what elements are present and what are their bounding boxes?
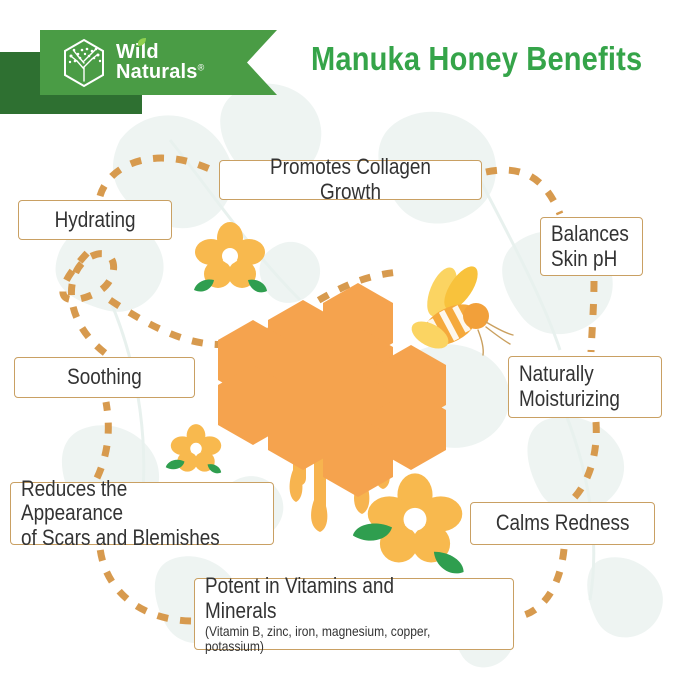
bee-icon — [407, 261, 513, 355]
benefit-label: Potent in Vitamins and Minerals — [205, 574, 461, 623]
infographic-canvas: Wild Naturals® Manuka Honey Benefits — [0, 0, 679, 679]
benefit-label: Hydrating — [55, 208, 136, 233]
benefit-sublabel: (Vitamin B, zinc, iron, magnesium, coppe… — [205, 624, 461, 654]
benefit-label: Naturally Moisturizing — [519, 362, 633, 411]
brand-logo-naturals: Naturals® — [116, 63, 204, 83]
benefit-label: Reduces the Appearance of Scars and Blem… — [21, 477, 229, 551]
benefit-label: Soothing — [67, 365, 142, 390]
honey-drip-icon — [290, 432, 390, 532]
brand-logo-text: Wild Naturals® — [116, 43, 204, 82]
brand-logo-line1: Wild — [116, 43, 204, 63]
benefit-box-balances-skin-ph[interactable]: Balances Skin pH — [540, 217, 643, 276]
benefit-label: Balances Skin pH — [551, 222, 621, 271]
benefit-box-potent-vitamins[interactable]: Potent in Vitamins and Minerals (Vitamin… — [194, 578, 514, 650]
brand-logo: Wild Naturals® — [58, 36, 243, 90]
flower-icon — [166, 424, 221, 473]
benefit-label: Calms Redness — [496, 511, 630, 536]
brand-banner: Wild Naturals® — [40, 30, 277, 95]
benefit-box-calms-redness[interactable]: Calms Redness — [470, 502, 655, 545]
benefit-box-naturally-moisturizing[interactable]: Naturally Moisturizing — [508, 356, 662, 418]
benefit-box-soothing[interactable]: Soothing — [14, 357, 195, 398]
benefit-box-hydrating[interactable]: Hydrating — [18, 200, 172, 240]
benefit-box-collagen[interactable]: Promotes Collagen Growth — [219, 160, 482, 200]
page-title: Manuka Honey Benefits — [311, 40, 642, 78]
benefit-box-reduces-scars[interactable]: Reduces the Appearance of Scars and Blem… — [10, 482, 274, 545]
flower-icon — [194, 222, 267, 292]
leaf-icon — [136, 37, 147, 48]
hexagon-tree-icon — [58, 37, 110, 89]
flower-icon — [353, 473, 464, 573]
benefit-label: Promotes Collagen Growth — [247, 155, 454, 204]
registered-mark: ® — [198, 62, 205, 72]
honeycomb-hexagons-icon — [218, 283, 446, 497]
